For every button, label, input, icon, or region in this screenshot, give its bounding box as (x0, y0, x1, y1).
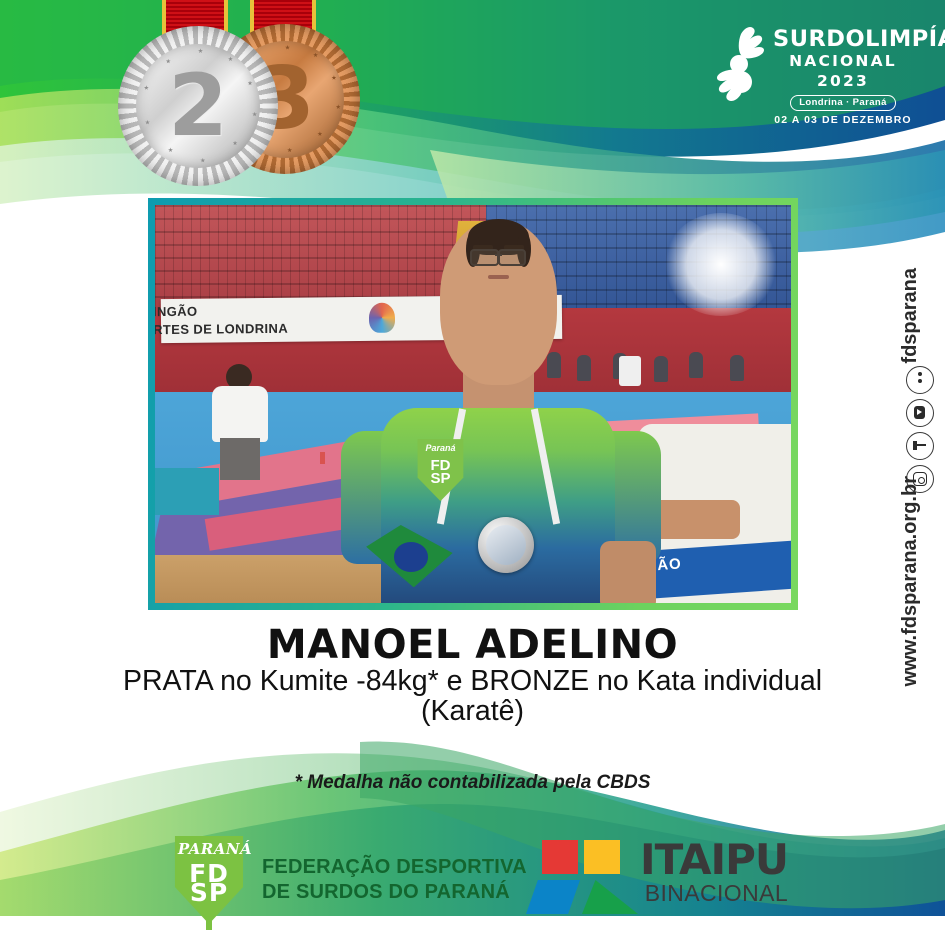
social-handle: fdsparana (899, 268, 941, 364)
athlete-photo: INGÃO RTES DE LONDRINA (155, 205, 791, 603)
eyeglasses-icon (470, 249, 526, 262)
water-bottle (320, 452, 325, 464)
fdsp-name-line-1: FEDERAÇÃO DESPORTIVA (262, 855, 527, 880)
event-subtitle: NACIONAL 2023 (773, 51, 913, 93)
fdsp-shield-sp: SP (172, 878, 246, 907)
facebook-icon[interactable] (906, 432, 934, 460)
athlete-head (440, 221, 557, 385)
medal-cluster: 3 2 (118, 0, 368, 184)
athlete-figure: Paraná FD SP (371, 213, 625, 603)
fdsp-shield-icon: PARANÁ FD SP (172, 836, 246, 924)
worn-silver-medal (478, 517, 534, 573)
footnote-text: * Medalha não contabilizada pela CBDS (0, 772, 945, 794)
poster-canvas: 3 2 (0, 0, 945, 945)
officials-table (155, 468, 219, 516)
jersey-fdsp-badge: Paraná FD SP (414, 439, 466, 501)
event-title: SURDOLIMPÍADA (773, 28, 913, 51)
itaipu-name: ITAIPU (640, 840, 788, 880)
silver-place-number: 2 (118, 26, 278, 186)
itaipu-wordmark: ITAIPU BINACIONAL (640, 840, 788, 907)
tiktok-icon[interactable] (906, 366, 934, 394)
social-rail: fdsparana www.fdsparana.org.br (899, 268, 941, 668)
footer-logos: PARANÁ FD SP FEDERAÇÃO DESPORTIVA DE SUR… (0, 836, 945, 936)
itaipu-subtitle: BINACIONAL (640, 880, 788, 907)
fdsp-name-line-2: DE SURDOS DO PARANÁ (262, 880, 527, 905)
achievement-line-2: (Karatê) (40, 696, 905, 726)
website-url[interactable]: www.fdsparana.org.br (899, 476, 941, 686)
silver-medal: 2 (118, 0, 278, 189)
event-city: Londrina · Paraná (790, 95, 896, 111)
itaipu-logo: ITAIPU BINACIONAL (526, 840, 788, 912)
fdsp-logo: PARANÁ FD SP FEDERAÇÃO DESPORTIVA DE SUR… (172, 836, 527, 924)
deaf-hands-icon (711, 24, 773, 116)
standing-official (212, 364, 268, 476)
itaipu-mark-icon (526, 840, 636, 912)
fdsp-name: FEDERAÇÃO DESPORTIVA DE SURDOS DO PARANÁ (262, 855, 527, 905)
event-dates: 02 A 03 DE DEZEMBRO (773, 114, 913, 126)
fdsp-shield-parana: PARANÁ (178, 840, 240, 859)
athlete-name: MANOEL ADELINO (0, 622, 945, 668)
achievement-text: PRATA no Kumite -84kg* e BRONZE no Kata … (40, 666, 905, 727)
youtube-icon[interactable] (906, 399, 934, 427)
achievement-line-1: PRATA no Kumite -84kg* e BRONZE no Kata … (40, 666, 905, 696)
light-glare (664, 213, 778, 316)
athlete-photo-frame: INGÃO RTES DE LONDRINA (148, 198, 798, 610)
event-logo: SURDOLIMPÍADA NACIONAL 2023 Londrina · P… (711, 22, 911, 122)
